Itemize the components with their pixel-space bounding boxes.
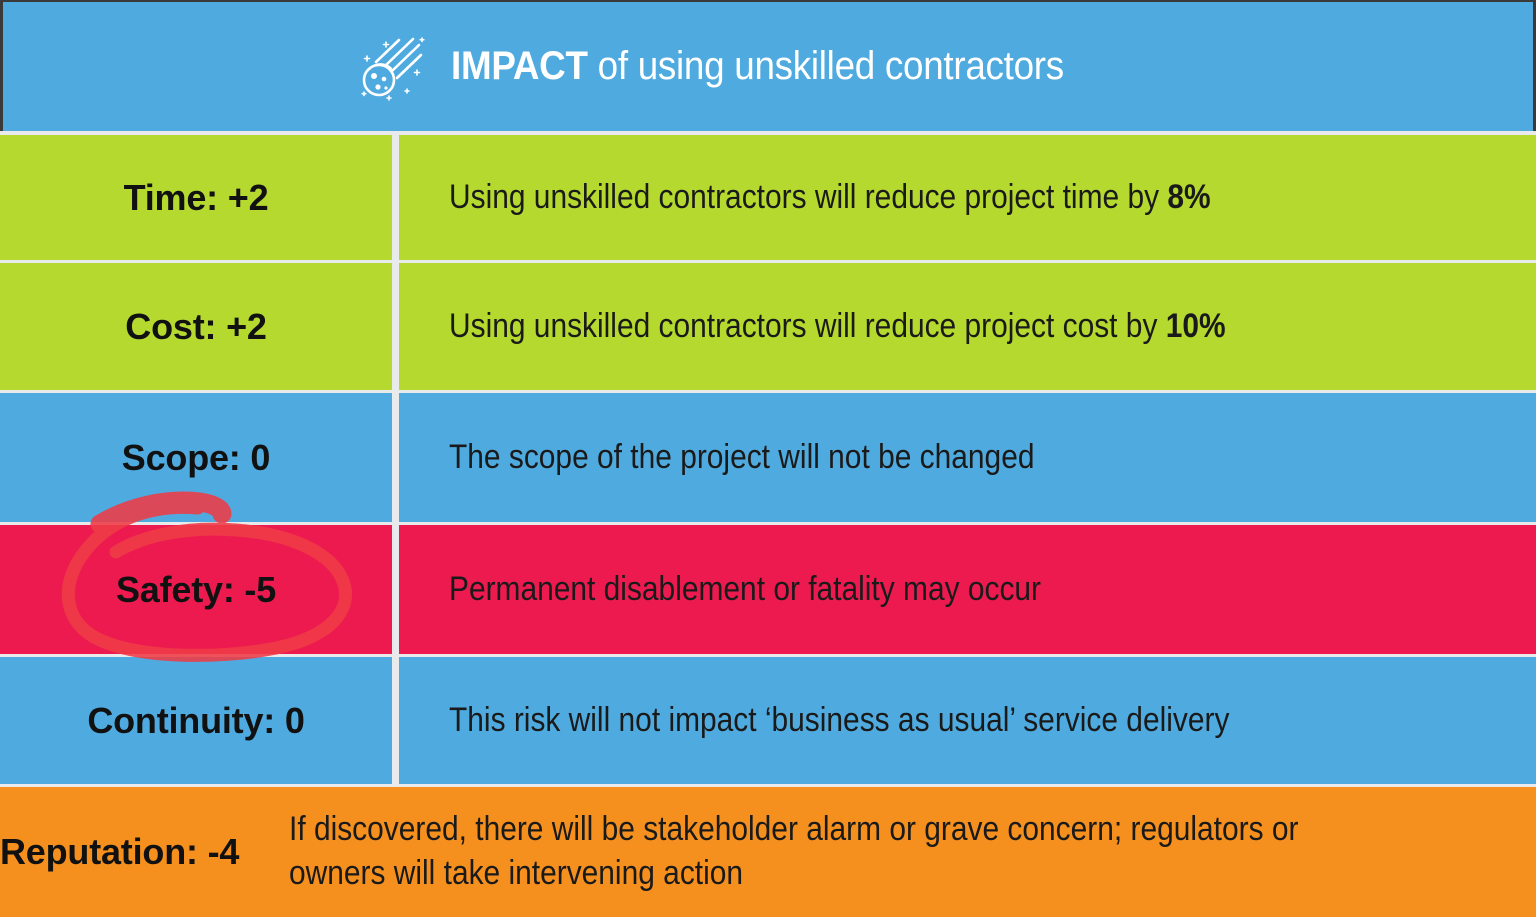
description-cell-time: Using unskilled contractors will reduce … <box>399 135 1536 260</box>
table-row: Time: +2 Using unskilled contractors wil… <box>0 135 1536 260</box>
column-divider <box>392 135 399 260</box>
criterion-label: Scope: 0 <box>122 437 270 479</box>
description-cell-reputation: If discovered, there will be stakeholder… <box>239 787 1536 917</box>
table-row: Cost: +2 Using unskilled contractors wil… <box>0 263 1536 390</box>
column-divider <box>392 393 399 522</box>
description-text: Using unskilled contractors will reduce … <box>449 305 1226 349</box>
table-row: Reputation: -4 If discovered, there will… <box>0 787 1536 917</box>
description-text: This risk will not impact ‘business as u… <box>449 699 1229 743</box>
criterion-cell-time: Time: +2 <box>0 135 392 260</box>
criterion-cell-safety: Safety: -5 <box>0 525 392 654</box>
description-text: Using unskilled contractors will reduce … <box>449 176 1211 220</box>
description-text: If discovered, there will be stakeholder… <box>289 808 1371 895</box>
description-prefix: Using unskilled contractors will reduce … <box>449 178 1167 216</box>
page-title: IMPACT of using unskilled contractors <box>451 44 1064 89</box>
description-cell-continuity: This risk will not impact ‘business as u… <box>399 657 1536 784</box>
page-title-rest: of using unskilled contractors <box>588 44 1064 88</box>
criterion-cell-scope: Scope: 0 <box>0 393 392 522</box>
column-divider <box>392 263 399 390</box>
criterion-cell-continuity: Continuity: 0 <box>0 657 392 784</box>
table-row: Continuity: 0 This risk will not impact … <box>0 657 1536 784</box>
description-text: The scope of the project will not be cha… <box>449 436 1034 480</box>
description-cell-scope: The scope of the project will not be cha… <box>399 393 1536 522</box>
column-divider <box>392 525 399 654</box>
description-prefix: Using unskilled contractors will reduce … <box>449 307 1166 345</box>
criterion-label: Cost: +2 <box>125 306 266 348</box>
description-emphasis: 10% <box>1166 307 1226 345</box>
description-emphasis: 8% <box>1167 178 1210 216</box>
criterion-label: Time: +2 <box>124 177 269 219</box>
description-cell-safety: Permanent disablement or fatality may oc… <box>399 525 1536 654</box>
impact-table-slide: IMPACT of using unskilled contractors Ti… <box>0 0 1536 917</box>
table-header: IMPACT of using unskilled contractors <box>0 0 1536 131</box>
description-text: Permanent disablement or fatality may oc… <box>449 568 1041 612</box>
table-row: Scope: 0 The scope of the project will n… <box>0 393 1536 522</box>
description-cell-cost: Using unskilled contractors will reduce … <box>399 263 1536 390</box>
column-divider <box>392 657 399 784</box>
page-title-emphasis: IMPACT <box>451 44 588 88</box>
comet-icon <box>355 30 429 104</box>
criterion-cell-cost: Cost: +2 <box>0 263 392 390</box>
criterion-cell-reputation: Reputation: -4 <box>0 787 239 917</box>
criterion-label: Continuity: 0 <box>87 700 304 742</box>
table-row: Safety: -5 Permanent disablement or fata… <box>0 525 1536 654</box>
criterion-label: Reputation: -4 <box>0 831 239 873</box>
criterion-label: Safety: -5 <box>116 569 276 611</box>
